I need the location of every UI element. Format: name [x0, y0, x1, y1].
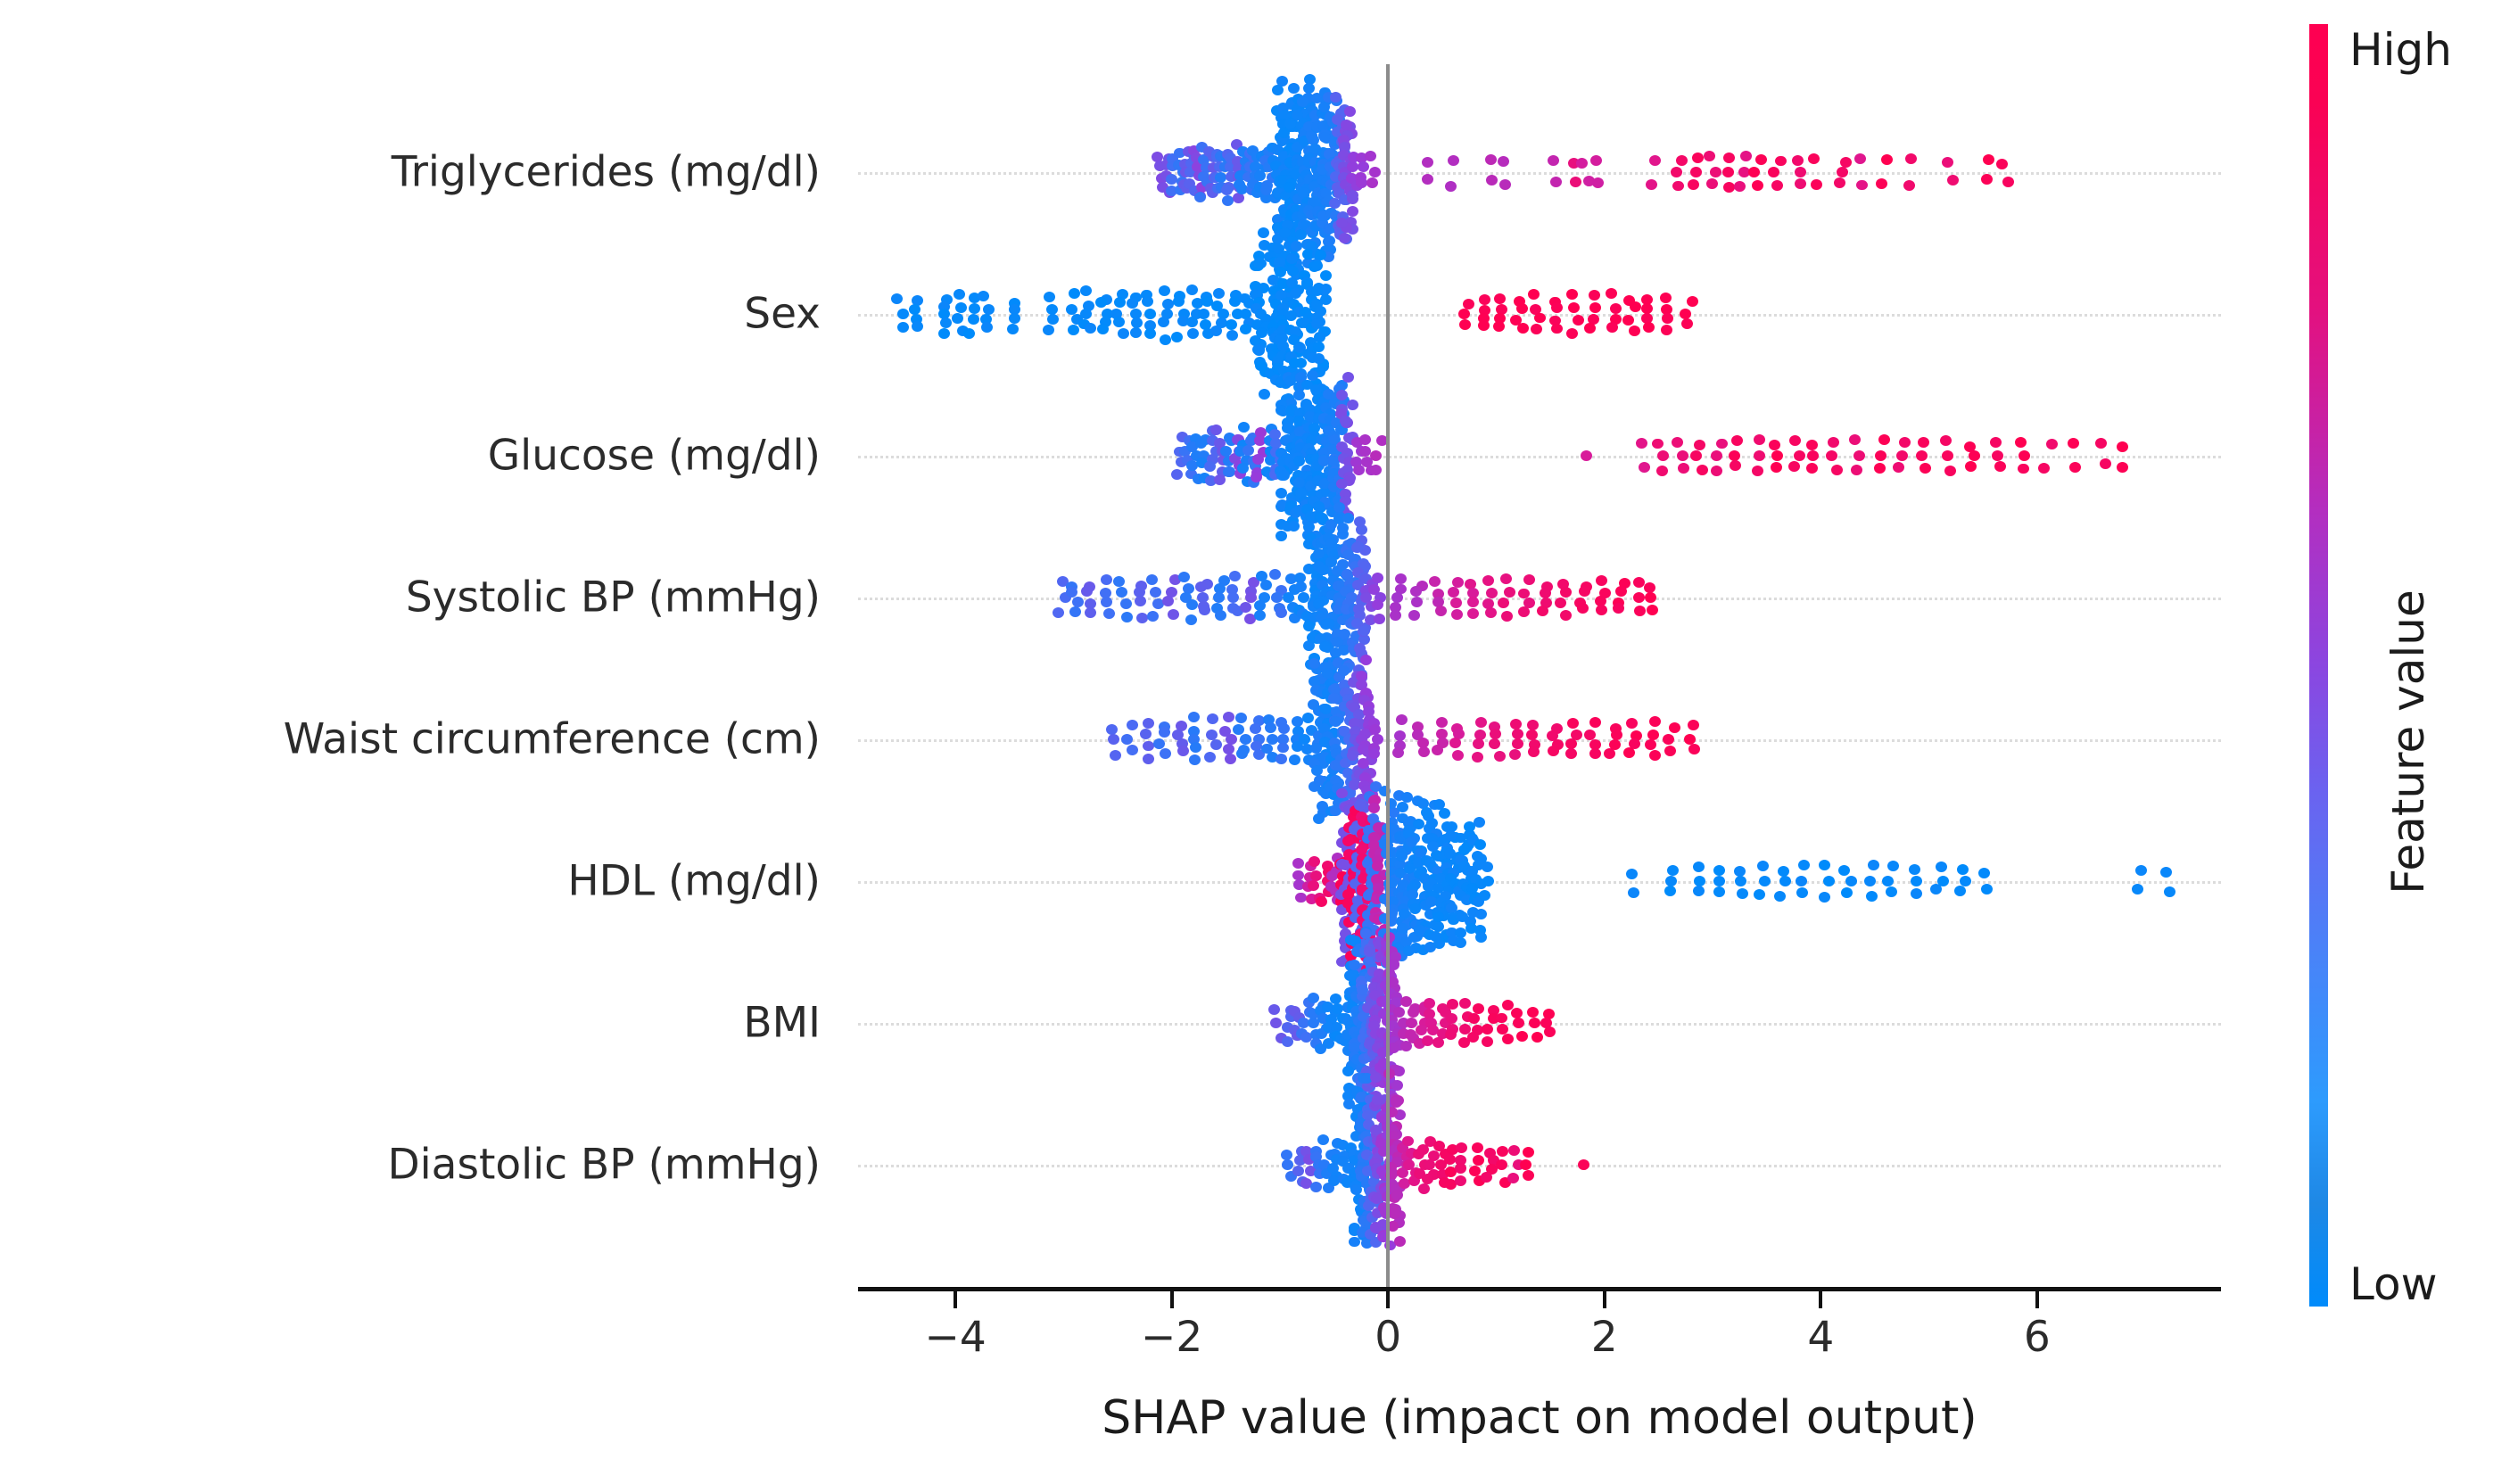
- beeswarm-point: [1623, 747, 1635, 758]
- beeswarm-point: [1735, 876, 1746, 886]
- beeswarm-point: [1295, 368, 1307, 379]
- beeswarm-point: [1309, 119, 1321, 129]
- beeswarm-point: [1319, 525, 1331, 536]
- beeswarm-point: [1127, 745, 1138, 755]
- beeswarm-point: [1297, 608, 1309, 619]
- beeswarm-point: [1792, 155, 1804, 166]
- beeswarm-point: [1315, 1005, 1326, 1016]
- beeswarm-point: [1319, 662, 1331, 672]
- beeswarm-point: [1584, 730, 1596, 740]
- beeswarm-point: [1342, 663, 1353, 673]
- beeswarm-point: [1969, 450, 1980, 461]
- beeswarm-point: [1470, 892, 1482, 903]
- beeswarm-point: [1311, 754, 1323, 764]
- beeswarm-point: [1353, 745, 1365, 755]
- beeswarm-point: [1489, 738, 1500, 749]
- beeswarm-point: [1360, 592, 1372, 603]
- beeswarm-point: [1416, 845, 1427, 856]
- beeswarm-point: [1318, 479, 1330, 490]
- beeswarm-point: [1310, 1151, 1322, 1162]
- beeswarm-point: [1369, 1059, 1381, 1070]
- beeswarm-point: [1307, 342, 1318, 353]
- beeswarm-point: [1317, 786, 1329, 796]
- beeswarm-point: [1234, 460, 1245, 471]
- beeswarm-point: [1282, 417, 1293, 428]
- beeswarm-point: [1298, 1018, 1309, 1028]
- beeswarm-point: [1534, 313, 1546, 324]
- beeswarm-point: [1261, 466, 1273, 477]
- beeswarm-point: [1641, 313, 1653, 324]
- beeswarm-point: [1577, 603, 1589, 614]
- beeswarm-point: [1271, 342, 1283, 353]
- beeswarm-point: [1291, 241, 1302, 251]
- beeswarm-point: [1339, 936, 1350, 946]
- beeswarm-point: [1360, 928, 1372, 939]
- beeswarm-point: [1292, 194, 1304, 204]
- beeswarm-point: [1130, 309, 1142, 319]
- beeswarm-point: [1358, 861, 1369, 871]
- beeswarm-point: [1610, 314, 1622, 325]
- beeswarm-point: [1366, 1026, 1378, 1037]
- beeswarm-point: [1372, 882, 1383, 893]
- beeswarm-point: [1319, 226, 1331, 236]
- beeswarm-point: [1140, 729, 1152, 739]
- beeswarm-point: [1285, 442, 1297, 453]
- beeswarm-point: [1240, 156, 1251, 167]
- beeswarm-point: [1360, 816, 1372, 827]
- beeswarm-point: [1474, 817, 1485, 828]
- beeswarm-point: [1319, 497, 1331, 507]
- beeswarm-point: [1270, 299, 1282, 309]
- beeswarm-point: [1290, 205, 1301, 216]
- beeswarm-point: [1321, 177, 1333, 187]
- beeswarm-point: [1360, 1005, 1372, 1016]
- beeswarm-point: [1333, 595, 1344, 606]
- beeswarm-point: [1274, 170, 1285, 181]
- beeswarm-point: [1375, 1138, 1387, 1149]
- beeswarm-point: [1341, 748, 1352, 759]
- beeswarm-point: [1362, 692, 1374, 703]
- beeswarm-point: [1235, 713, 1247, 723]
- beeswarm-point: [1284, 325, 1296, 335]
- beeswarm-point: [1294, 165, 1306, 176]
- beeswarm-point: [1333, 474, 1345, 485]
- beeswarm-point: [1080, 309, 1092, 319]
- beeswarm-point: [1461, 889, 1473, 900]
- beeswarm-point: [1359, 1107, 1371, 1117]
- beeswarm-point: [1224, 433, 1235, 443]
- beeswarm-point: [1343, 1099, 1355, 1109]
- beeswarm-point: [1634, 606, 1646, 616]
- beeswarm-point: [1374, 969, 1385, 979]
- beeswarm-point: [1355, 1093, 1366, 1104]
- beeswarm-point: [1282, 465, 1293, 475]
- beeswarm-point: [1358, 816, 1369, 827]
- beeswarm-point: [1196, 182, 1208, 193]
- beeswarm-point: [1289, 453, 1300, 464]
- beeswarm-point: [1072, 597, 1084, 607]
- x-axis-spine: [858, 1287, 2221, 1291]
- beeswarm-point: [1315, 633, 1326, 644]
- beeswarm-point: [1345, 1020, 1357, 1031]
- beeswarm-point: [1276, 519, 1287, 530]
- beeswarm-point: [1201, 579, 1213, 589]
- beeswarm-point: [1311, 386, 1323, 397]
- beeswarm-point: [1345, 1142, 1357, 1153]
- beeswarm-point: [1339, 194, 1350, 205]
- beeswarm-point: [1227, 603, 1239, 614]
- beeswarm-point: [1372, 1208, 1383, 1218]
- beeswarm-point: [1293, 164, 1305, 175]
- beeswarm-point: [1272, 363, 1284, 374]
- beeswarm-point: [1339, 884, 1350, 895]
- beeswarm-point: [1369, 912, 1381, 923]
- beeswarm-point: [1409, 1003, 1421, 1014]
- beeswarm-point: [1226, 734, 1237, 745]
- beeswarm-point: [1294, 408, 1306, 418]
- beeswarm-point: [1688, 179, 1699, 190]
- beeswarm-point: [1333, 155, 1345, 166]
- beeswarm-point: [1317, 209, 1328, 219]
- beeswarm-point: [1307, 227, 1318, 238]
- beeswarm-point: [1186, 317, 1198, 327]
- beeswarm-point: [1516, 1031, 1528, 1042]
- beeswarm-point: [1317, 1134, 1329, 1145]
- beeswarm-point: [1373, 878, 1384, 889]
- beeswarm-point: [1294, 419, 1306, 430]
- beeswarm-point: [1394, 901, 1406, 911]
- beeswarm-point: [1353, 898, 1365, 909]
- beeswarm-point: [1337, 1013, 1349, 1024]
- beeswarm-point: [1188, 150, 1200, 161]
- beeswarm-point: [1589, 717, 1601, 728]
- beeswarm-point: [1370, 1072, 1382, 1083]
- beeswarm-point: [1365, 1036, 1376, 1047]
- beeswarm-point: [1323, 389, 1334, 400]
- beeswarm-point: [1356, 1076, 1367, 1086]
- beeswarm-point: [1277, 303, 1289, 314]
- beeswarm-point: [1327, 670, 1339, 680]
- beeswarm-point: [1451, 609, 1463, 620]
- beeswarm-point: [1186, 441, 1198, 452]
- beeswarm-point: [1757, 861, 1769, 871]
- beeswarm-point: [1548, 155, 1559, 166]
- beeswarm-point: [1831, 465, 1843, 475]
- beeswarm-point: [1316, 896, 1327, 907]
- beeswarm-point: [1366, 579, 1378, 589]
- beeswarm-point: [1590, 155, 1602, 166]
- beeswarm-point: [1324, 130, 1335, 141]
- beeswarm-point: [1453, 886, 1465, 896]
- beeswarm-point: [1330, 210, 1342, 221]
- beeswarm-point: [1373, 952, 1384, 962]
- beeswarm-point: [1358, 634, 1370, 645]
- beeswarm-point: [1419, 1159, 1431, 1170]
- beeswarm-point: [1360, 952, 1372, 962]
- beeswarm-point: [1356, 596, 1367, 606]
- beeswarm-point: [1258, 447, 1269, 458]
- beeswarm-point: [1530, 304, 1541, 315]
- beeswarm-point: [1706, 178, 1718, 189]
- beeswarm-point: [1364, 1183, 1375, 1193]
- beeswarm-point: [1332, 629, 1343, 639]
- beeswarm-point: [1406, 837, 1417, 847]
- beeswarm-point: [1442, 903, 1454, 914]
- beeswarm-point: [1730, 460, 1741, 471]
- beeswarm-point: [1667, 865, 1679, 876]
- beeswarm-point: [1153, 738, 1165, 749]
- beeswarm-point: [1333, 511, 1345, 522]
- beeswarm-point: [1408, 872, 1420, 883]
- x-axis-tick: [2035, 1291, 2039, 1308]
- beeswarm-point: [1346, 538, 1358, 548]
- beeswarm-point: [1351, 180, 1363, 191]
- beeswarm-point: [1226, 435, 1237, 446]
- beeswarm-point: [1347, 194, 1358, 204]
- beeswarm-point: [1292, 741, 1303, 752]
- beeswarm-point: [1202, 328, 1214, 339]
- beeswarm-point: [1265, 446, 1276, 457]
- beeswarm-point: [1242, 172, 1254, 183]
- beeswarm-point: [1359, 1044, 1371, 1055]
- beeswarm-point: [1779, 876, 1791, 886]
- beeswarm-point: [1325, 1014, 1337, 1025]
- beeswarm-point: [1349, 824, 1360, 835]
- beeswarm-point: [1359, 772, 1371, 783]
- beeswarm-point: [1078, 319, 1090, 330]
- beeswarm-point: [1981, 174, 1993, 185]
- beeswarm-point: [1647, 730, 1659, 740]
- beeswarm-point: [1467, 1032, 1479, 1043]
- beeswarm-point: [1330, 716, 1342, 727]
- beeswarm-point: [1292, 211, 1303, 222]
- beeswarm-point: [1338, 857, 1350, 868]
- beeswarm-point: [1298, 187, 1309, 198]
- beeswarm-point: [1349, 1155, 1360, 1166]
- beeswarm-point: [1806, 463, 1818, 474]
- beeswarm-point: [1287, 112, 1299, 123]
- beeswarm-point: [1317, 515, 1329, 526]
- beeswarm-point: [1350, 808, 1362, 819]
- beeswarm-point: [1103, 608, 1115, 619]
- beeswarm-point: [1349, 1043, 1360, 1053]
- beeswarm-point: [1354, 610, 1366, 621]
- beeswarm-point: [1315, 753, 1326, 763]
- beeswarm-point: [1328, 456, 1340, 466]
- beeswarm-point: [1299, 507, 1310, 517]
- beeswarm-point: [1135, 581, 1147, 591]
- beeswarm-point: [1356, 648, 1367, 659]
- beeswarm-point: [1287, 233, 1299, 243]
- beeswarm-point: [1253, 297, 1265, 308]
- beeswarm-point: [1344, 987, 1356, 998]
- beeswarm-point: [1371, 1101, 1383, 1111]
- beeswarm-point: [1352, 1104, 1364, 1115]
- beeswarm-point: [1196, 458, 1208, 468]
- beeswarm-point: [2095, 438, 2107, 449]
- beeswarm-point: [1352, 833, 1364, 844]
- beeswarm-point: [1435, 606, 1447, 616]
- beeswarm-point: [1267, 752, 1278, 763]
- beeswarm-point: [1358, 1110, 1369, 1121]
- beeswarm-point: [1295, 430, 1307, 441]
- beeswarm-point: [1502, 1000, 1514, 1010]
- beeswarm-point: [1209, 172, 1220, 183]
- beeswarm-point: [1047, 314, 1059, 325]
- beeswarm-point: [1412, 919, 1424, 930]
- beeswarm-point: [1279, 227, 1291, 238]
- beeswarm-point: [1298, 125, 1309, 136]
- beeswarm-point: [1372, 1153, 1383, 1164]
- beeswarm-point: [1311, 633, 1323, 644]
- beeswarm-point: [1282, 203, 1293, 214]
- beeswarm-point: [1312, 386, 1324, 397]
- beeswarm-point: [1419, 891, 1431, 902]
- beeswarm-point: [1350, 631, 1362, 641]
- beeswarm-point: [1338, 827, 1350, 837]
- beeswarm-point: [1354, 516, 1366, 527]
- beeswarm-point: [1243, 298, 1255, 309]
- beeswarm-point: [1247, 433, 1259, 443]
- beeswarm-point: [1350, 577, 1361, 588]
- beeswarm-point: [1359, 1120, 1371, 1131]
- beeswarm-point: [1511, 1008, 1523, 1018]
- beeswarm-point: [1364, 938, 1375, 949]
- beeswarm-point: [1335, 879, 1347, 890]
- beeswarm-point: [1394, 1182, 1406, 1192]
- beeswarm-point: [1146, 574, 1158, 585]
- beeswarm-point: [1344, 839, 1356, 850]
- beeswarm-point: [1348, 152, 1359, 162]
- beeswarm-point: [1358, 944, 1370, 954]
- beeswarm-point: [1375, 955, 1386, 966]
- beeswarm-point: [1887, 861, 1899, 871]
- beeswarm-point: [1358, 588, 1370, 598]
- beeswarm-point: [1370, 820, 1382, 830]
- beeswarm-point: [1731, 435, 1743, 446]
- beeswarm-point: [1339, 726, 1350, 737]
- x-axis-tick: [1386, 1291, 1390, 1308]
- beeswarm-point: [1441, 900, 1453, 911]
- beeswarm-point: [1647, 605, 1658, 615]
- beeswarm-point: [1353, 738, 1365, 748]
- beeswarm-point: [1355, 1075, 1366, 1085]
- beeswarm-point: [1288, 83, 1300, 94]
- beeswarm-point: [1254, 600, 1266, 611]
- beeswarm-point: [1278, 204, 1290, 215]
- beeswarm-point: [1676, 155, 1688, 166]
- beeswarm-point: [1435, 898, 1447, 909]
- beeswarm-point: [1338, 167, 1350, 177]
- beeswarm-point: [1101, 597, 1112, 607]
- beeswarm-point: [1269, 569, 1281, 580]
- beeswarm-point: [1661, 325, 1672, 335]
- beeswarm-point: [1434, 907, 1446, 918]
- beeswarm-point: [1981, 884, 1993, 895]
- beeswarm-point: [1350, 645, 1361, 655]
- beeswarm-point: [1234, 446, 1246, 457]
- beeswarm-point: [1336, 479, 1348, 490]
- beeswarm-point: [1216, 317, 1227, 328]
- beeswarm-point: [1299, 136, 1310, 146]
- beeswarm-point: [1258, 283, 1269, 293]
- beeswarm-point: [1085, 598, 1096, 609]
- beeswarm-point: [1284, 375, 1296, 386]
- beeswarm-point: [1364, 946, 1375, 957]
- beeswarm-point: [1330, 744, 1342, 754]
- beeswarm-point: [1366, 601, 1377, 612]
- beeswarm-point: [1288, 152, 1300, 162]
- beeswarm-point: [1317, 175, 1329, 185]
- beeswarm-point: [1296, 120, 1308, 131]
- beeswarm-point: [1361, 1020, 1373, 1031]
- beeswarm-point: [1351, 852, 1363, 862]
- beeswarm-point: [1422, 833, 1433, 844]
- beeswarm-point: [1393, 1007, 1405, 1018]
- beeswarm-point: [1371, 914, 1383, 925]
- beeswarm-point: [1417, 1144, 1429, 1155]
- beeswarm-point: [1271, 285, 1283, 296]
- beeswarm-point: [1293, 505, 1305, 515]
- beeswarm-point: [1345, 699, 1357, 710]
- beeswarm-point: [1734, 181, 1746, 192]
- beeswarm-point: [1452, 577, 1464, 588]
- beeswarm-point: [1289, 164, 1300, 175]
- beeswarm-point: [1947, 175, 1959, 185]
- beeswarm-point: [1286, 159, 1298, 169]
- beeswarm-point: [1357, 1020, 1368, 1031]
- beeswarm-point: [1613, 598, 1624, 608]
- beeswarm-point: [1143, 741, 1154, 752]
- beeswarm-point: [1256, 360, 1267, 371]
- beeswarm-point: [1338, 453, 1350, 464]
- beeswarm-point: [1366, 848, 1378, 859]
- beeswarm-point: [1265, 455, 1276, 466]
- beeswarm-point: [1937, 876, 1949, 886]
- beeswarm-point: [1348, 873, 1359, 884]
- beeswarm-point: [1365, 815, 1376, 826]
- beeswarm-point: [1368, 796, 1380, 806]
- beeswarm-point: [1358, 1033, 1369, 1043]
- beeswarm-point: [1431, 850, 1442, 861]
- beeswarm-point: [1159, 285, 1170, 296]
- beeswarm-point: [1364, 725, 1375, 736]
- beeswarm-point: [1352, 580, 1364, 590]
- beeswarm-point: [1270, 317, 1282, 328]
- beeswarm-point: [1540, 598, 1552, 608]
- beeswarm-point: [1465, 923, 1477, 934]
- beeswarm-point: [1204, 752, 1216, 763]
- beeswarm-point: [1335, 108, 1347, 119]
- beeswarm-point: [1318, 473, 1330, 483]
- beeswarm-point: [1669, 722, 1680, 733]
- beeswarm-point: [1442, 868, 1454, 878]
- beeswarm-point: [1368, 803, 1380, 813]
- beeswarm-point: [1314, 410, 1325, 421]
- beeswarm-point: [1251, 187, 1263, 198]
- beeswarm-point: [1392, 747, 1404, 758]
- beeswarm-point: [1322, 642, 1333, 653]
- beeswarm-point: [1285, 111, 1297, 122]
- beeswarm-point: [1270, 161, 1282, 171]
- beeswarm-point: [1317, 734, 1329, 745]
- beeswarm-point: [1370, 1125, 1382, 1135]
- beeswarm-point: [1357, 1084, 1368, 1094]
- beeswarm-point: [1316, 383, 1327, 394]
- beeswarm-point: [1330, 683, 1342, 694]
- beeswarm-point: [1274, 177, 1285, 188]
- beeswarm-point: [1473, 896, 1484, 907]
